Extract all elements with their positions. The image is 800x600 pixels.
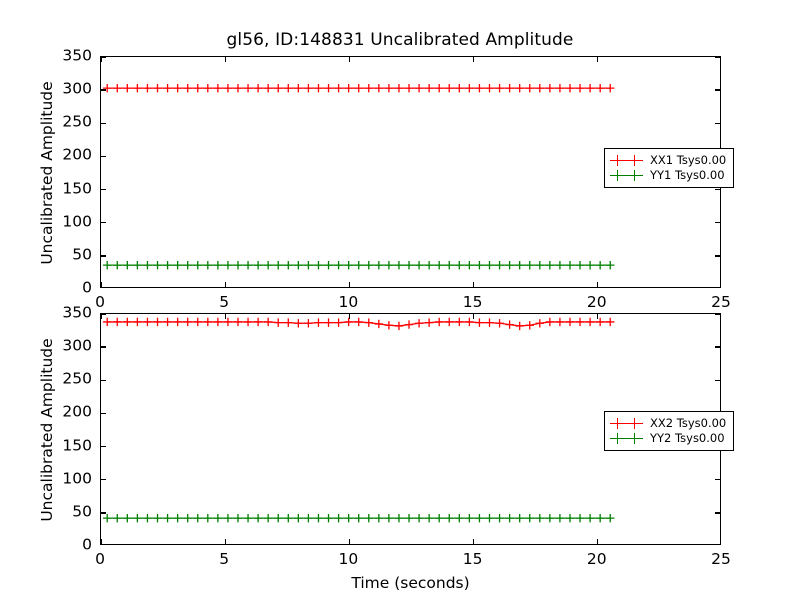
legend-label: YY1 Tsys0.00 [650, 170, 725, 182]
y-tick-label: 350 [62, 48, 92, 64]
legend-line-marker-icon [610, 417, 643, 430]
y-tick-label: 350 [62, 305, 92, 321]
x-tick-label: 10 [339, 552, 359, 568]
y-tick-label: 300 [62, 338, 92, 354]
y-tick-label: 0 [82, 280, 92, 296]
legend-line-marker-icon [610, 432, 643, 445]
y-tick-label: 0 [82, 537, 92, 553]
series-yy1 [103, 261, 614, 269]
x-tick-label: 25 [711, 295, 731, 311]
legend-entry[interactable]: XX1 Tsys0.00 [610, 153, 726, 168]
x-tick-label: 20 [587, 552, 607, 568]
x-tick-label: 15 [463, 552, 483, 568]
y-tick-label: 200 [62, 405, 92, 421]
legend-entry[interactable]: XX2 Tsys0.00 [610, 416, 726, 431]
y-tick-label: 300 [62, 81, 92, 97]
x-tick-label: 0 [95, 552, 105, 568]
y-tick-label: 150 [62, 438, 92, 454]
series-yy2 [103, 514, 614, 522]
y-tick-label: 150 [62, 181, 92, 197]
x-tick-label: 15 [463, 295, 483, 311]
legend-top: XX1 Tsys0.00YY1 Tsys0.00 [604, 148, 734, 188]
x-axis-label: Time (seconds) [351, 574, 469, 592]
legend-bottom: XX2 Tsys0.00YY2 Tsys0.00 [604, 411, 734, 451]
y-tick-label: 100 [62, 214, 92, 230]
legend-entry[interactable]: YY1 Tsys0.00 [610, 168, 726, 183]
x-tick-label: 10 [339, 295, 359, 311]
figure-canvas: gl56, ID:148831 Uncalibrated Amplitude 0… [0, 0, 800, 600]
x-tick-label: 0 [95, 295, 105, 311]
y-tick-label: 200 [62, 148, 92, 164]
series-xx1 [103, 84, 614, 92]
x-tick-label: 5 [219, 552, 229, 568]
y-tick-label: 250 [62, 115, 92, 131]
legend-line-marker-icon [610, 169, 643, 182]
x-tick-label: 20 [587, 295, 607, 311]
y-tick-label: 50 [72, 247, 92, 263]
x-tick-label: 5 [219, 295, 229, 311]
y-axis-label: Uncalibrated Amplitude [38, 314, 56, 546]
legend-label: XX2 Tsys0.00 [650, 418, 726, 430]
legend-label: XX1 Tsys0.00 [650, 155, 726, 167]
legend-label: YY2 Tsys0.00 [650, 433, 725, 445]
series-xx2 [103, 318, 614, 330]
legend-line-marker-icon [610, 154, 643, 167]
legend-entry[interactable]: YY2 Tsys0.00 [610, 431, 726, 446]
y-tick-label: 100 [62, 471, 92, 487]
x-tick-label: 25 [711, 552, 731, 568]
y-tick-label: 50 [72, 504, 92, 520]
y-tick-label: 250 [62, 372, 92, 388]
y-axis-label: Uncalibrated Amplitude [38, 57, 56, 289]
page-title: gl56, ID:148831 Uncalibrated Amplitude [0, 30, 800, 50]
